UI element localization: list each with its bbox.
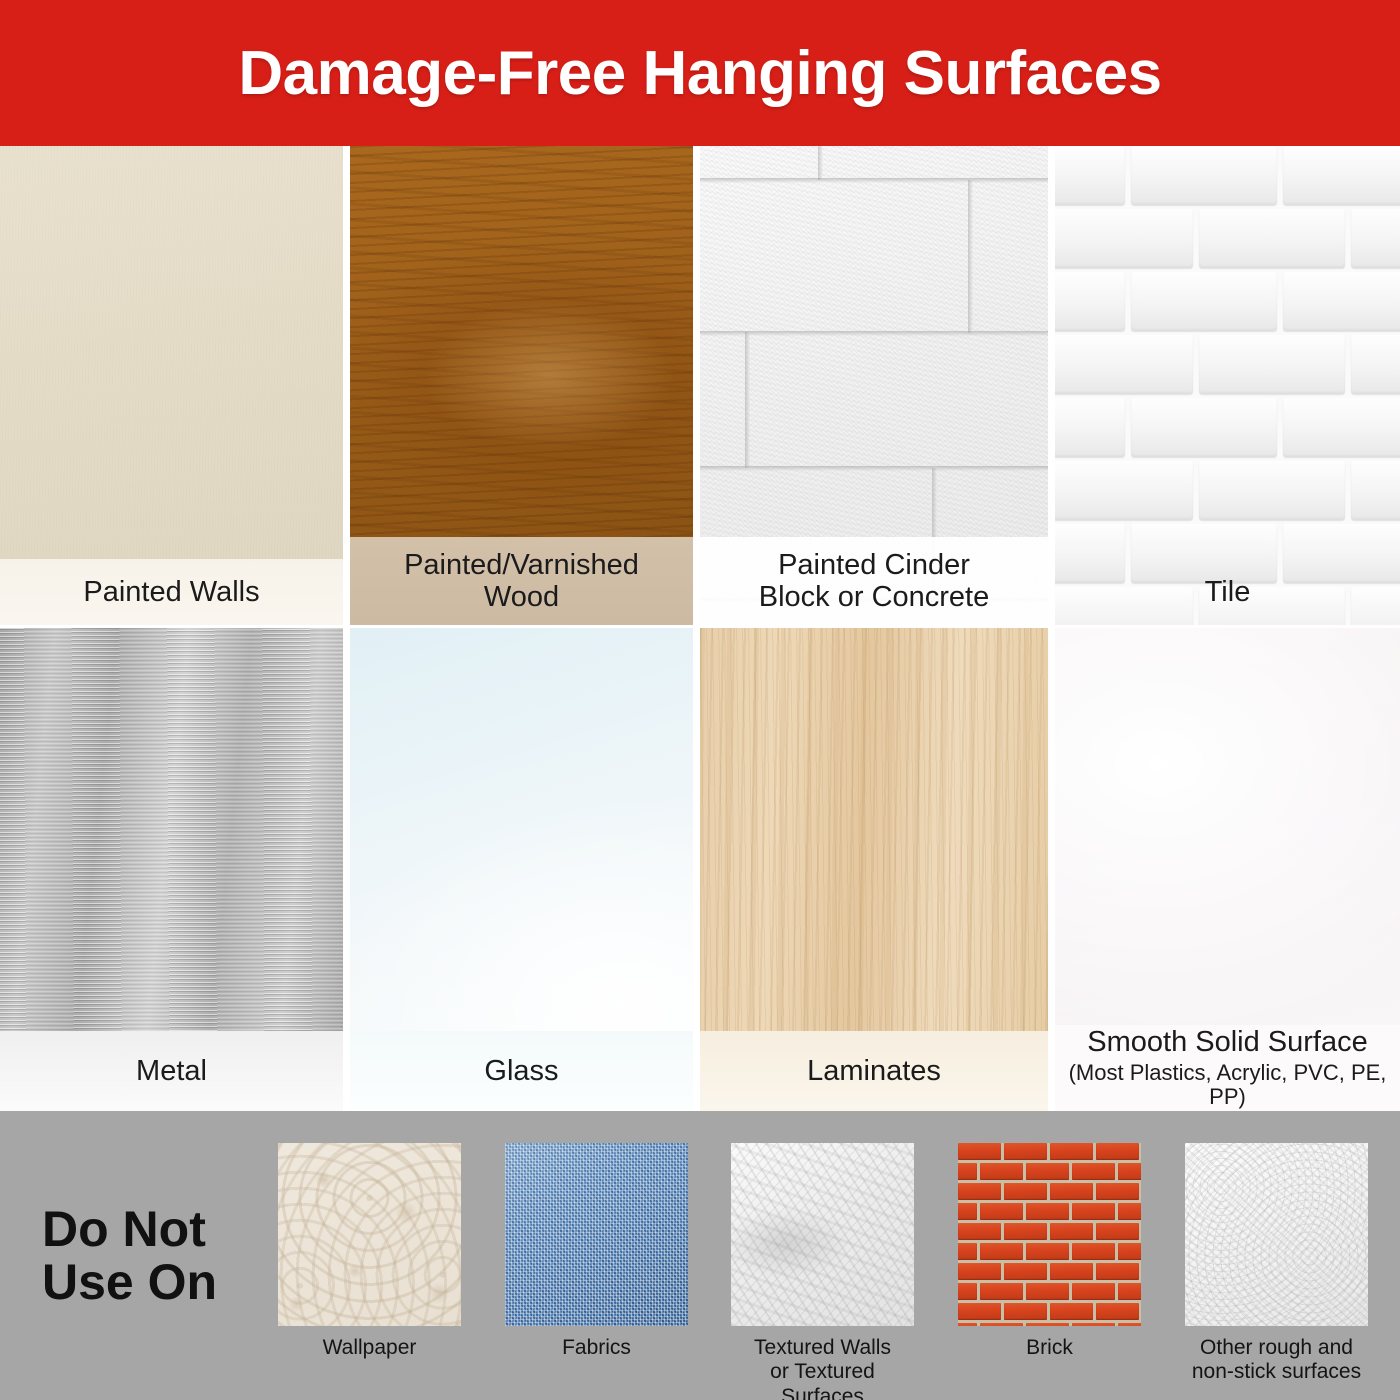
tile-unit xyxy=(1199,335,1345,394)
brick-unit xyxy=(1118,1283,1141,1300)
brick-unit xyxy=(958,1163,977,1180)
approved-surfaces-grid: Painted Walls Painted/Varnished Wood xyxy=(0,146,1400,1111)
brick-row xyxy=(958,1223,1141,1244)
brick-unit xyxy=(958,1263,1001,1280)
surface-cell-laminates[interactable]: Laminates xyxy=(700,628,1048,1111)
surface-cell-painted-varnished-wood[interactable]: Painted/Varnished Wood xyxy=(350,146,693,625)
brick-unit xyxy=(1050,1143,1093,1160)
surface-cell-tile[interactable]: Tile xyxy=(1055,146,1400,625)
brick-unit xyxy=(1072,1243,1115,1260)
brick-unit xyxy=(1050,1263,1093,1280)
brick-unit xyxy=(980,1323,1023,1326)
do-not-use-item-textured-walls[interactable]: Textured Walls or Textured Surfaces xyxy=(731,1143,914,1400)
tile-row xyxy=(1055,146,1400,209)
brick-unit xyxy=(1096,1223,1139,1240)
brick-unit xyxy=(980,1283,1023,1300)
surface-label-smooth-solid-surface: Smooth Solid Surface (Most Plastics, Acr… xyxy=(1055,1025,1400,1111)
brick-row xyxy=(958,1143,1141,1164)
brick-unit xyxy=(958,1183,1001,1200)
tile-row xyxy=(1055,209,1400,272)
brick-unit xyxy=(1096,1143,1139,1160)
tile-unit xyxy=(1199,461,1345,520)
tile-unit xyxy=(1351,335,1400,394)
do-not-use-section: Do Not Use On Wallpaper Fabrics Textured… xyxy=(0,1111,1400,1400)
brick-row xyxy=(958,1263,1141,1284)
brick-unit xyxy=(1004,1183,1047,1200)
brick-unit xyxy=(958,1223,1001,1240)
brick-unit xyxy=(1118,1323,1141,1326)
tile-unit xyxy=(1131,272,1277,331)
do-not-use-heading: Do Not Use On xyxy=(42,1203,272,1309)
tile-unit xyxy=(1055,461,1193,520)
tile-unit xyxy=(1055,398,1125,457)
brick-unit xyxy=(1096,1263,1139,1280)
do-not-use-item-fabrics[interactable]: Fabrics xyxy=(505,1143,688,1360)
surface-cell-painted-cinder-block[interactable]: Painted Cinder Block or Concrete xyxy=(700,146,1048,625)
do-not-use-item-other-rough[interactable]: Other rough and non-stick surfaces xyxy=(1185,1143,1368,1385)
surface-label-laminates: Laminates xyxy=(700,1031,1048,1111)
infographic-page: Damage-Free Hanging Surfaces Painted Wal… xyxy=(0,0,1400,1400)
brick-unit xyxy=(1026,1163,1069,1180)
do-not-use-label-fabrics: Fabrics xyxy=(505,1336,688,1360)
brick-unit xyxy=(1004,1223,1047,1240)
brick-unit xyxy=(1096,1183,1139,1200)
brick-unit xyxy=(1004,1303,1047,1320)
surface-label-glass: Glass xyxy=(350,1031,693,1111)
tile-grid xyxy=(1055,146,1400,625)
brick-unit xyxy=(958,1323,977,1326)
tile-unit xyxy=(1055,146,1125,205)
brick-unit xyxy=(1026,1283,1069,1300)
brick-unit xyxy=(1072,1203,1115,1220)
tile-row xyxy=(1055,272,1400,335)
brick-unit xyxy=(1050,1223,1093,1240)
brick-unit xyxy=(958,1203,977,1220)
red-brick-texture-icon xyxy=(958,1143,1141,1326)
brick-unit xyxy=(980,1243,1023,1260)
tile-unit xyxy=(1283,272,1400,331)
tile-unit xyxy=(1283,146,1400,205)
rough-popcorn-texture-icon xyxy=(1185,1143,1368,1326)
surface-cell-painted-walls[interactable]: Painted Walls xyxy=(0,146,343,625)
do-not-use-label-other-rough: Other rough and non-stick surfaces xyxy=(1185,1336,1368,1385)
brick-unit xyxy=(1004,1143,1047,1160)
textured-plaster-texture-icon xyxy=(731,1143,914,1326)
brick-unit xyxy=(1118,1243,1141,1260)
brick-unit xyxy=(1072,1323,1115,1326)
brick-row xyxy=(958,1203,1141,1224)
do-not-use-label-textured-walls: Textured Walls or Textured Surfaces xyxy=(731,1336,914,1400)
denim-fabric-texture-icon xyxy=(505,1143,688,1326)
brick-unit xyxy=(1026,1203,1069,1220)
brick-row xyxy=(958,1183,1141,1204)
brick-unit xyxy=(1072,1283,1115,1300)
brick-unit xyxy=(958,1243,977,1260)
surface-cell-metal[interactable]: Metal xyxy=(0,628,343,1111)
tile-unit xyxy=(1199,209,1345,268)
brick-unit xyxy=(1118,1163,1141,1180)
brick-row xyxy=(958,1243,1141,1264)
surface-cell-glass[interactable]: Glass xyxy=(350,628,693,1111)
brick-unit xyxy=(1026,1243,1069,1260)
surface-label-painted-varnished-wood: Painted/Varnished Wood xyxy=(350,537,693,625)
tile-row xyxy=(1055,335,1400,398)
brick-unit xyxy=(1072,1163,1115,1180)
tile-unit xyxy=(1351,209,1400,268)
brick-row xyxy=(958,1303,1141,1324)
brick-row xyxy=(958,1323,1141,1326)
do-not-use-label-brick: Brick xyxy=(958,1336,1141,1360)
brick-unit xyxy=(958,1143,1001,1160)
tile-unit xyxy=(1283,398,1400,457)
header-banner: Damage-Free Hanging Surfaces xyxy=(0,0,1400,146)
tile-unit xyxy=(1055,272,1125,331)
painted-wall-texture-icon xyxy=(0,146,343,625)
tile-row xyxy=(1055,398,1400,461)
brick-unit xyxy=(980,1163,1023,1180)
damask-wallpaper-texture-icon xyxy=(278,1143,461,1326)
brick-row xyxy=(958,1283,1141,1304)
page-title: Damage-Free Hanging Surfaces xyxy=(238,38,1161,109)
tile-unit xyxy=(1131,146,1277,205)
tile-row xyxy=(1055,461,1400,524)
surface-label-painted-cinder-block: Painted Cinder Block or Concrete xyxy=(700,537,1048,625)
brick-unit xyxy=(980,1203,1023,1220)
tile-unit xyxy=(1055,335,1193,394)
brick-unit xyxy=(958,1283,977,1300)
do-not-use-item-wallpaper[interactable]: Wallpaper xyxy=(278,1143,461,1360)
do-not-use-label-wallpaper: Wallpaper xyxy=(278,1336,461,1360)
brick-unit xyxy=(1050,1303,1093,1320)
brick-unit xyxy=(1096,1303,1139,1320)
brick-unit xyxy=(1050,1183,1093,1200)
brick-unit xyxy=(1118,1203,1141,1220)
brick-row xyxy=(958,1163,1141,1184)
tile-unit xyxy=(1131,398,1277,457)
brick-unit xyxy=(1026,1323,1069,1326)
surface-label-tile: Tile xyxy=(1055,559,1400,625)
surface-label-painted-walls: Painted Walls xyxy=(0,559,343,625)
brick-unit xyxy=(958,1303,1001,1320)
tile-unit xyxy=(1351,461,1400,520)
tile-unit xyxy=(1055,209,1193,268)
brick-unit xyxy=(1004,1263,1047,1280)
do-not-use-item-brick[interactable]: Brick xyxy=(958,1143,1141,1360)
surface-label-metal: Metal xyxy=(0,1031,343,1111)
surface-cell-smooth-solid-surface[interactable]: Smooth Solid Surface (Most Plastics, Acr… xyxy=(1055,628,1400,1111)
